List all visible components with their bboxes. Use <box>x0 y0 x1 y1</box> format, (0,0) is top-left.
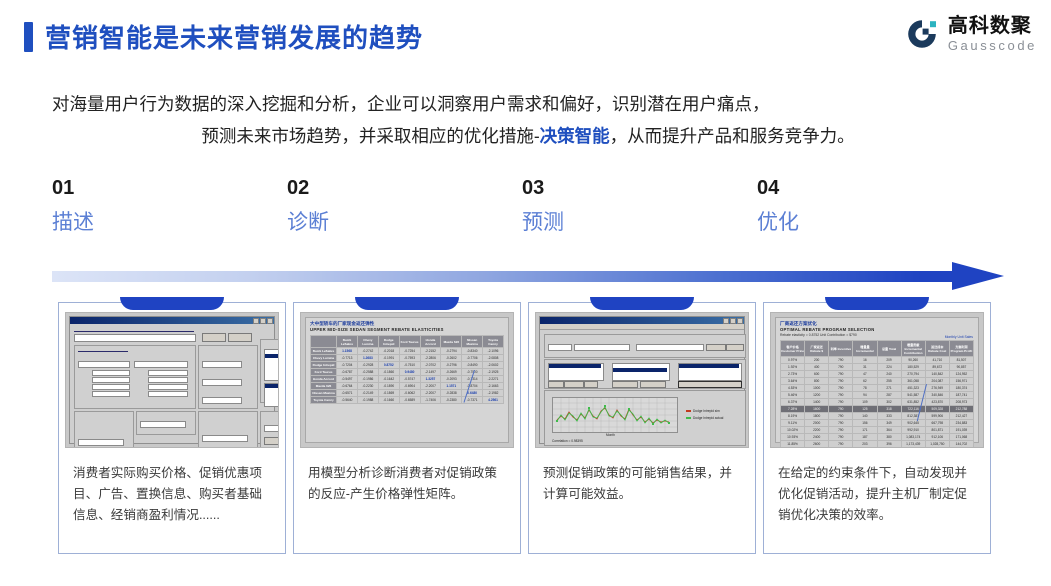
optimization-cell: 411 <box>877 448 901 449</box>
matrix-cell: -2.0808 <box>483 355 504 362</box>
optimization-cell: 270,794 <box>901 371 925 378</box>
optimization-cell: 790 <box>829 385 853 392</box>
progress-arrow-shaft <box>52 271 957 282</box>
matrix-cell: -0.7204 <box>337 362 358 369</box>
optimization-cell: 361,058 <box>901 378 925 385</box>
page-title: 营销智能是未来营销发展的趋势 <box>24 18 423 55</box>
optimization-cell: 140 <box>853 413 877 420</box>
optimization-cell: 396 <box>877 441 901 448</box>
optimization-cell: 790 <box>829 413 853 420</box>
matrix-cell: -0.6571 <box>337 390 358 397</box>
optimization-cell: 1,151,017 <box>925 448 949 449</box>
close-icon <box>737 318 743 324</box>
optimization-row: 4.53%100079078271451,323276,949180,374 <box>781 385 974 392</box>
optimization-cell: 208,973 <box>949 399 973 406</box>
optimization-cell: 340,846 <box>925 392 949 399</box>
opt-col-1: 厂家返还 Rebate $ <box>805 341 829 357</box>
matrix-row: Chevy Lumina-0.77131.2683-0.1991-0.7593-… <box>311 355 504 362</box>
stage-04-label: 优化 <box>757 210 957 236</box>
matrix-cell: -0.2796 <box>441 362 462 369</box>
matrix-col-0: Buick LeSabre <box>337 336 358 348</box>
matrix-col-4: Honda Accord <box>420 336 441 348</box>
optimization-cell: 380 <box>877 434 901 441</box>
optimization-cell: 62 <box>853 378 877 385</box>
matrix-cell: -0.1642 <box>378 376 399 383</box>
optimization-row: 3.64%80079062255361,058204,087156,971 <box>781 378 974 385</box>
crm-scenario-window <box>69 316 275 444</box>
matrix-col-1: Chevy Lumina <box>357 336 378 348</box>
optimization-cell: 187 <box>853 434 877 441</box>
optimization-cell: 509,328 <box>925 406 949 413</box>
card-optimize-screenshot: 厂商返还方案优化 OPTIMAL REBATE PROGRAM SELECTIO… <box>770 312 984 448</box>
optimization-cell: 12.76% <box>781 448 805 449</box>
card-predict-caption: 预测促销政策的可能销售结果，并计算可能效益。 <box>543 463 743 505</box>
optimization-cell: 171,068 <box>949 434 973 441</box>
optimization-cell: 234,883 <box>949 420 973 427</box>
optimization-cell: 333 <box>877 413 901 420</box>
matrix-cell: -1.7406 <box>420 397 441 404</box>
optimization-cell: 1,173,439 <box>901 441 925 448</box>
optimization-cell: 156 <box>853 420 877 427</box>
optimization-cell: 180,374 <box>949 385 973 392</box>
matrix-row-header: Chevy Lumina <box>311 355 337 362</box>
optimization-cell: 2.73% <box>781 371 805 378</box>
matrix-cell: -0.6062 <box>399 390 420 397</box>
maximize-icon <box>730 318 736 324</box>
optimization-cell: 7.28% <box>781 406 805 413</box>
logo-name-en: Gausscode <box>948 39 1037 52</box>
matrix-body: Buick LeSabre1.1568-0.2742-0.2018-0.7254… <box>311 348 504 404</box>
matrix-cell: -0.2669 <box>441 369 462 376</box>
card-diagnose-screenshot: 大中型轿车的厂家现金返还弹性 UPPER MID-SIZE SEDAN SEGM… <box>300 312 514 448</box>
optimization-cell: 271 <box>877 385 901 392</box>
opt-col-4: 总量 Total <box>877 341 901 357</box>
matrix-cell: -0.1860 <box>378 369 399 376</box>
matrix-title-en: UPPER MID-SIZE SEDAN SEGMENT REBATE ELAS… <box>310 327 504 333</box>
optimization-cell: 124,952 <box>949 371 973 378</box>
opt-col-0: 客户价格 Customer Price <box>781 341 805 357</box>
chart-legend-actual: Dodge Intrepid actual <box>686 416 723 421</box>
opt-col-5: 增量贡献 Incremental Contribution <box>901 341 925 357</box>
matrix-cell: -0.7510 <box>399 362 420 369</box>
matrix-row-header: Ford Taurus <box>311 369 337 376</box>
matrix-cell: -0.6764 <box>337 383 358 390</box>
optimization-cell: 318 <box>877 406 901 413</box>
optimization-cell: 722,116 <box>901 406 925 413</box>
matrix-col-3: Ford Taurus <box>399 336 420 348</box>
matrix-cell: -0.1991 <box>378 355 399 362</box>
optimization-cell: 1,083,174 <box>901 434 925 441</box>
optimization-cell: 41,710 <box>925 357 949 364</box>
card-predict-tab <box>590 297 694 310</box>
stage-01: 01 描述 <box>52 176 252 236</box>
stage-cards: 消费者实际购买价格、促销优惠项目、广告、置换信息、购买者基础信息、经销商盈利情况… <box>0 296 1051 558</box>
matrix-cell: -0.1869 <box>378 390 399 397</box>
optimization-cell: 89,672 <box>925 364 949 371</box>
optimization-cell: 2400 <box>805 434 829 441</box>
matrix-cell: -2.1663 <box>483 383 504 390</box>
logo-glyph <box>905 17 939 51</box>
matrix-row-header: Honda Accord <box>311 376 337 383</box>
matrix-cell: -2.2007 <box>420 390 441 397</box>
window-menubar[interactable] <box>540 324 744 330</box>
prediction-chart <box>552 397 678 433</box>
opt-col-6: 返还成本 Rebate Cost <box>925 341 949 357</box>
optimization-cell: 790 <box>829 371 853 378</box>
maximize-icon <box>260 318 266 324</box>
matrix-cell: -0.7254 <box>399 348 420 355</box>
matrix-cell: 1.3257 <box>420 376 441 383</box>
matrix-cell: -2.1925 <box>483 369 504 376</box>
optimization-cell: 364 <box>877 427 901 434</box>
matrix-cell: -0.8490 <box>462 362 483 369</box>
card-predict-screenshot: Month Dodge Intrepid sim Dodge Intrepid … <box>535 312 749 448</box>
legend-label-sim: Dodge Intrepid sim <box>693 409 720 413</box>
matrix-cell: 0.9480 <box>399 369 420 376</box>
matrix-cell: -2.2271 <box>483 376 504 383</box>
optimization-cell: 790 <box>829 357 853 364</box>
optimization-cell: 902,645 <box>901 420 925 427</box>
optimization-cell: 112,686 <box>949 448 973 449</box>
matrix-cell: -0.2794 <box>441 348 462 355</box>
lead-line-2-before: 预测未来市场趋势，并采取相应的优化措施- <box>201 126 539 146</box>
optimization-cell: 276,949 <box>925 385 949 392</box>
optimization-row: 8.19%1800790140333812,381599,906212,427 <box>781 413 974 420</box>
matrix-cell: -0.2230 <box>357 383 378 390</box>
optimization-cell: 790 <box>829 406 853 413</box>
simulation-window: Month Dodge Intrepid sim Dodge Intrepid … <box>539 316 745 444</box>
matrix-cell: -0.2018 <box>378 348 399 355</box>
matrix-col-7: Toyota Camry <box>483 336 504 348</box>
optimization-cell: 992,910 <box>901 427 925 434</box>
optimization-cell: 156,971 <box>949 378 973 385</box>
optimization-cell: 790 <box>829 399 853 406</box>
stage-02-number: 02 <box>287 176 487 200</box>
optimization-table: 厂商返还方案优化 OPTIMAL REBATE PROGRAM SELECTIO… <box>775 317 979 443</box>
opt-col-2: 利率 Incentive <box>829 341 853 357</box>
matrix-row-header: Mazda 626 <box>311 383 337 390</box>
matrix-row-header: Nissan Maxima <box>311 390 337 397</box>
matrix-cell: -0.2093 <box>441 376 462 383</box>
optimization-row: 0.97%2007901620990,26041,71081,507 <box>781 357 974 364</box>
gausscode-logo-mark <box>905 17 939 51</box>
card-diagnose-caption: 用模型分析诊断消费者对促销政策的反应-产生价格弹性矩阵。 <box>308 463 508 505</box>
logo-wordmark: 高科数聚 Gausscode <box>948 16 1037 52</box>
optimization-cell: 302 <box>877 399 901 406</box>
optimization-header-row: 客户价格 Customer Price 厂家返还 Rebate $ 利率 Inc… <box>781 341 974 357</box>
matrix-cell: -2.1096 <box>483 348 504 355</box>
optimization-cell: 5.46% <box>781 392 805 399</box>
optimization-cell: 667,798 <box>925 420 949 427</box>
progress-arrow-head <box>952 262 1004 290</box>
card-describe-tab <box>120 297 224 310</box>
matrix-cell: -0.6589 <box>399 397 420 404</box>
opt-col-7: 方案利润 Program Profit <box>949 341 973 357</box>
card-optimize[interactable]: 厂商返还方案优化 OPTIMAL REBATE PROGRAM SELECTIO… <box>763 302 991 554</box>
close-icon <box>267 318 273 324</box>
optimization-cell: 11.85% <box>781 441 805 448</box>
prediction-chart-svg <box>553 398 677 432</box>
minimize-icon <box>253 318 259 324</box>
progress-arrow <box>52 262 1004 290</box>
optimization-cell: 1800 <box>805 413 829 420</box>
matrix-cell: -0.2602 <box>441 355 462 362</box>
optimization-cell: 790 <box>829 427 853 434</box>
matrix-cell: -0.8704 <box>462 383 483 390</box>
matrix-cell: -0.2380 <box>441 397 462 404</box>
optimization-cell: 204,087 <box>925 378 949 385</box>
optimization-row: 5.46%120079094287541,587340,846187,741 <box>781 392 974 399</box>
optimization-cell: 1,263,703 <box>901 448 925 449</box>
optimization-cell: 200 <box>805 357 829 364</box>
matrix-row-header: Buick LeSabre <box>311 348 337 355</box>
optimization-row: 12.76%28007902184111,263,7031,151,017112… <box>781 448 974 449</box>
optimization-cell: 2200 <box>805 427 829 434</box>
optimization-cell: 790 <box>829 420 853 427</box>
optimization-cell: 912,106 <box>925 434 949 441</box>
optimization-cell: 10.02% <box>781 427 805 434</box>
optimization-cell: 800 <box>805 378 829 385</box>
matrix-row-header: Toyota Camry <box>311 397 337 404</box>
optimization-cell: 240 <box>877 371 901 378</box>
stage-labels: 01 描述 02 诊断 03 预测 04 优化 <box>52 176 1002 248</box>
chart-footnote: Correlation = 0.98395 <box>552 439 583 443</box>
optimization-cell: 94 <box>853 392 877 399</box>
matrix-col-6: Nissan Maxima <box>462 336 483 348</box>
optimization-cell: 209 <box>877 357 901 364</box>
page-title-text: 营销智能是未来营销发展的趋势 <box>45 18 423 55</box>
card-diagnose[interactable]: 大中型轿车的厂家现金返还弹性 UPPER MID-SIZE SEDAN SEGM… <box>293 302 521 554</box>
optimization-row: 11.85%26007902033961,173,4391,028,750144… <box>781 441 974 448</box>
matrix-cell: -0.5497 <box>337 376 358 383</box>
optimization-cell: 790 <box>829 378 853 385</box>
optimization-cell: 125 <box>853 406 877 413</box>
optimization-cell: 212,788 <box>949 406 973 413</box>
matrix-cell: -0.5640 <box>337 397 358 404</box>
optimization-cell: 203 <box>853 441 877 448</box>
optimization-row: 1.92%40079031224180,52989,67290,857 <box>781 364 974 371</box>
optimization-cell: 3.64% <box>781 378 805 385</box>
optimization-cell: 187,741 <box>949 392 973 399</box>
card-describe-screenshot <box>65 312 279 448</box>
stage-03: 03 预测 <box>522 176 722 236</box>
optimization-row: 2.73%60079047240270,794140,842124,952 <box>781 371 974 378</box>
optimization-cell: 8.19% <box>781 413 805 420</box>
optimization-cell: 1400 <box>805 399 829 406</box>
matrix-cell: -0.7593 <box>399 355 420 362</box>
optimization-cell: 812,381 <box>901 413 925 420</box>
matrix-cell: -0.2742 <box>357 348 378 355</box>
matrix-cell: -0.6787 <box>337 369 358 376</box>
chart-xaxis-label: Month <box>606 433 615 437</box>
optimization-cell: 349 <box>877 420 901 427</box>
card-predict[interactable]: Month Dodge Intrepid sim Dodge Intrepid … <box>528 302 756 554</box>
card-describe[interactable]: 消费者实际购买价格、促销优惠项目、广告、置换信息、购买者基础信息、经销商盈利情况… <box>58 302 286 554</box>
elasticity-matrix: 大中型轿车的厂家现金返还弹性 UPPER MID-SIZE SEDAN SEGM… <box>305 317 509 443</box>
optimization-meta-right: Monthly Unit Sales <box>945 335 973 340</box>
optimization-cell: 212,427 <box>949 413 973 420</box>
optimization-cell: 6.37% <box>781 399 805 406</box>
page-header: 营销智能是未来营销发展的趋势 高科数聚 Gausscode <box>0 0 1051 74</box>
matrix-row: Buick LeSabre1.1568-0.2742-0.2018-0.7254… <box>311 348 504 355</box>
optimization-cell: 1600 <box>805 406 829 413</box>
title-accent-bar <box>24 22 33 52</box>
stage-02-label: 诊断 <box>287 210 487 236</box>
matrix-col-5: Mazda 626 <box>441 336 462 348</box>
matrix-cell: -0.5747 <box>399 376 420 383</box>
matrix-cell: 1.2683 <box>357 355 378 362</box>
window-titlebar <box>70 317 274 324</box>
matrix-cell: -0.2149 <box>357 390 378 397</box>
stage-01-label: 描述 <box>52 210 252 236</box>
optimization-cell: 790 <box>829 434 853 441</box>
optimization-cell: 255 <box>877 378 901 385</box>
optimization-cell: 790 <box>829 392 853 399</box>
optimization-cell: 600 <box>805 371 829 378</box>
matrix-cell: -2.2806 <box>420 355 441 362</box>
window-controls <box>253 318 273 324</box>
matrix-cell: -2.0602 <box>483 362 504 369</box>
optimization-cell: 218 <box>853 448 877 449</box>
stage-04-number: 04 <box>757 176 957 200</box>
optimization-cell: 1200 <box>805 392 829 399</box>
optimization-cell: 451,323 <box>901 385 925 392</box>
optimization-cell: 4.53% <box>781 385 805 392</box>
matrix-cell: -2.2152 <box>420 348 441 355</box>
matrix-cell: 4.2561 <box>483 397 504 404</box>
matrix-row: Mazda 626-0.6764-0.2230-0.1890-0.6904-2.… <box>311 383 504 390</box>
matrix-cell: -0.2838 <box>441 390 462 397</box>
card-optimize-tab <box>825 297 929 310</box>
stage-02: 02 诊断 <box>287 176 487 236</box>
optimization-cell: 0.97% <box>781 357 805 364</box>
lead-paragraph: 对海量用户行为数据的深入挖掘和分析，企业可以洞察用户需求和偏好，识别潜在用户痛点… <box>52 88 1004 152</box>
optimization-row: 10.93%24007901873801,083,174912,106171,0… <box>781 434 974 441</box>
optimization-cell: 81,507 <box>949 357 973 364</box>
optimization-cell: 400 <box>805 364 829 371</box>
card-diagnose-tab <box>355 297 459 310</box>
matrix-row: Dodge Intrepid-0.7204-0.29280.8752-0.751… <box>311 362 504 369</box>
optimization-grid: 客户价格 Customer Price 厂家返还 Rebate $ 利率 Inc… <box>780 340 974 448</box>
optimization-cell: 140,842 <box>925 371 949 378</box>
optimization-cell: 790 <box>829 441 853 448</box>
optimization-cell: 2800 <box>805 448 829 449</box>
matrix-cell: -2.1497 <box>420 369 441 376</box>
legend-swatch-actual <box>686 417 691 419</box>
matrix-row: Nissan Maxima-0.6571-0.2149-0.1869-0.606… <box>311 390 504 397</box>
opt-col-3: 增量量 Incremental <box>853 341 877 357</box>
stage-03-number: 03 <box>522 176 722 200</box>
optimization-cell: 9.11% <box>781 420 805 427</box>
matrix-cell: -0.6904 <box>399 383 420 390</box>
legend-swatch-sim <box>686 410 691 412</box>
optimization-cell: 287 <box>877 392 901 399</box>
lead-line-2: 预测未来市场趋势，并采取相应的优化措施-决策智能，从而提升产品和服务竞争力。 <box>52 120 1004 152</box>
matrix-cell: -0.2588 <box>357 369 378 376</box>
card-optimize-caption: 在给定的约束条件下，自动发现并优化促销活动，提升主机厂制定促销优化决策的效率。 <box>778 463 978 526</box>
optimization-body: 0.97%2007901620990,26041,71081,5071.92%4… <box>781 357 974 449</box>
optimization-cell: 78 <box>853 385 877 392</box>
matrix-cell: -0.7713 <box>337 355 358 362</box>
stage-03-label: 预测 <box>522 210 722 236</box>
optimization-row: 10.02%2200790171364992,910801,871191,039 <box>781 427 974 434</box>
legend-label-actual: Dodge Intrepid actual <box>693 416 723 420</box>
matrix-row: Toyota Camry-0.5640-0.1988-0.1660-0.6589… <box>311 397 504 404</box>
optimization-row: 9.11%2000790156349902,645667,798234,883 <box>781 420 974 427</box>
optimization-cell: 2600 <box>805 441 829 448</box>
stage-01-number: 01 <box>52 176 252 200</box>
optimization-cell: 47 <box>853 371 877 378</box>
optimization-cell: 171 <box>853 427 877 434</box>
optimization-row: 6.37%1400790109302631,852423,870208,973 <box>781 399 974 406</box>
optimization-cell: 144,702 <box>949 441 973 448</box>
optimization-cell: 1.92% <box>781 364 805 371</box>
matrix-cell: -0.2928 <box>357 362 378 369</box>
optimization-cell: 790 <box>829 448 853 449</box>
matrix-cell: 1.1571 <box>441 383 462 390</box>
optimization-cell: 224 <box>877 364 901 371</box>
window-controls <box>723 318 743 324</box>
matrix-cell: -0.1660 <box>378 397 399 404</box>
logo-name-cn: 高科数聚 <box>948 16 1037 36</box>
brand-logo: 高科数聚 Gausscode <box>905 16 1037 52</box>
optimization-cell: 1000 <box>805 385 829 392</box>
matrix-cell: -0.8340 <box>462 348 483 355</box>
matrix-cell: -2.2007 <box>420 383 441 390</box>
matrix-cell: -0.7706 <box>462 355 483 362</box>
matrix-cell: -2.1982 <box>483 390 504 397</box>
matrix-corner <box>311 336 337 348</box>
matrix-cell: -0.1986 <box>357 376 378 383</box>
optimization-cell: 423,870 <box>925 399 949 406</box>
optimization-cell: 2000 <box>805 420 829 427</box>
matrix-cell: 0.8752 <box>378 362 399 369</box>
optimization-cell: 31 <box>853 364 877 371</box>
chart-legend-sim: Dodge Intrepid sim <box>686 409 720 414</box>
optimization-cell: 90,857 <box>949 364 973 371</box>
optimization-cell: 1,028,750 <box>925 441 949 448</box>
matrix-cell: -2.0702 <box>420 362 441 369</box>
matrix-cell: -0.1988 <box>357 397 378 404</box>
matrix-header-row: Buick LeSabre Chevy Lumina Dodge Intrepi… <box>311 336 504 348</box>
lead-highlight: 决策智能 <box>540 126 610 146</box>
matrix-row: Honda Accord-0.5497-0.1986-0.1642-0.5747… <box>311 376 504 383</box>
lead-line-1: 对海量用户行为数据的深入挖掘和分析，企业可以洞察用户需求和偏好，识别潜在用户痛点… <box>52 88 1004 120</box>
optimization-cell: 16 <box>853 357 877 364</box>
card-describe-caption: 消费者实际购买价格、促销优惠项目、广告、置换信息、购买者基础信息、经销商盈利情况… <box>73 463 273 526</box>
window-titlebar <box>540 317 744 324</box>
lead-line-2-after: ，从而提升产品和服务竞争力。 <box>610 126 855 146</box>
matrix-row-header: Dodge Intrepid <box>311 362 337 369</box>
stage-04: 04 优化 <box>757 176 957 236</box>
optimization-cell: 90,260 <box>901 357 925 364</box>
matrix-col-2: Dodge Intrepid <box>378 336 399 348</box>
minimize-icon <box>723 318 729 324</box>
optimization-cell: 10.93% <box>781 434 805 441</box>
optimization-cell: 180,529 <box>901 364 925 371</box>
optimization-cell: 191,039 <box>949 427 973 434</box>
matrix-cell: -0.1890 <box>378 383 399 390</box>
optimization-cell: 599,906 <box>925 413 949 420</box>
optimization-cell: 790 <box>829 364 853 371</box>
optimization-row: 7.28%1600790125318722,116509,328212,788 <box>781 406 974 413</box>
optimization-cell: 801,871 <box>925 427 949 434</box>
optimization-cell: 109 <box>853 399 877 406</box>
matrix-cell: 1.1568 <box>337 348 358 355</box>
